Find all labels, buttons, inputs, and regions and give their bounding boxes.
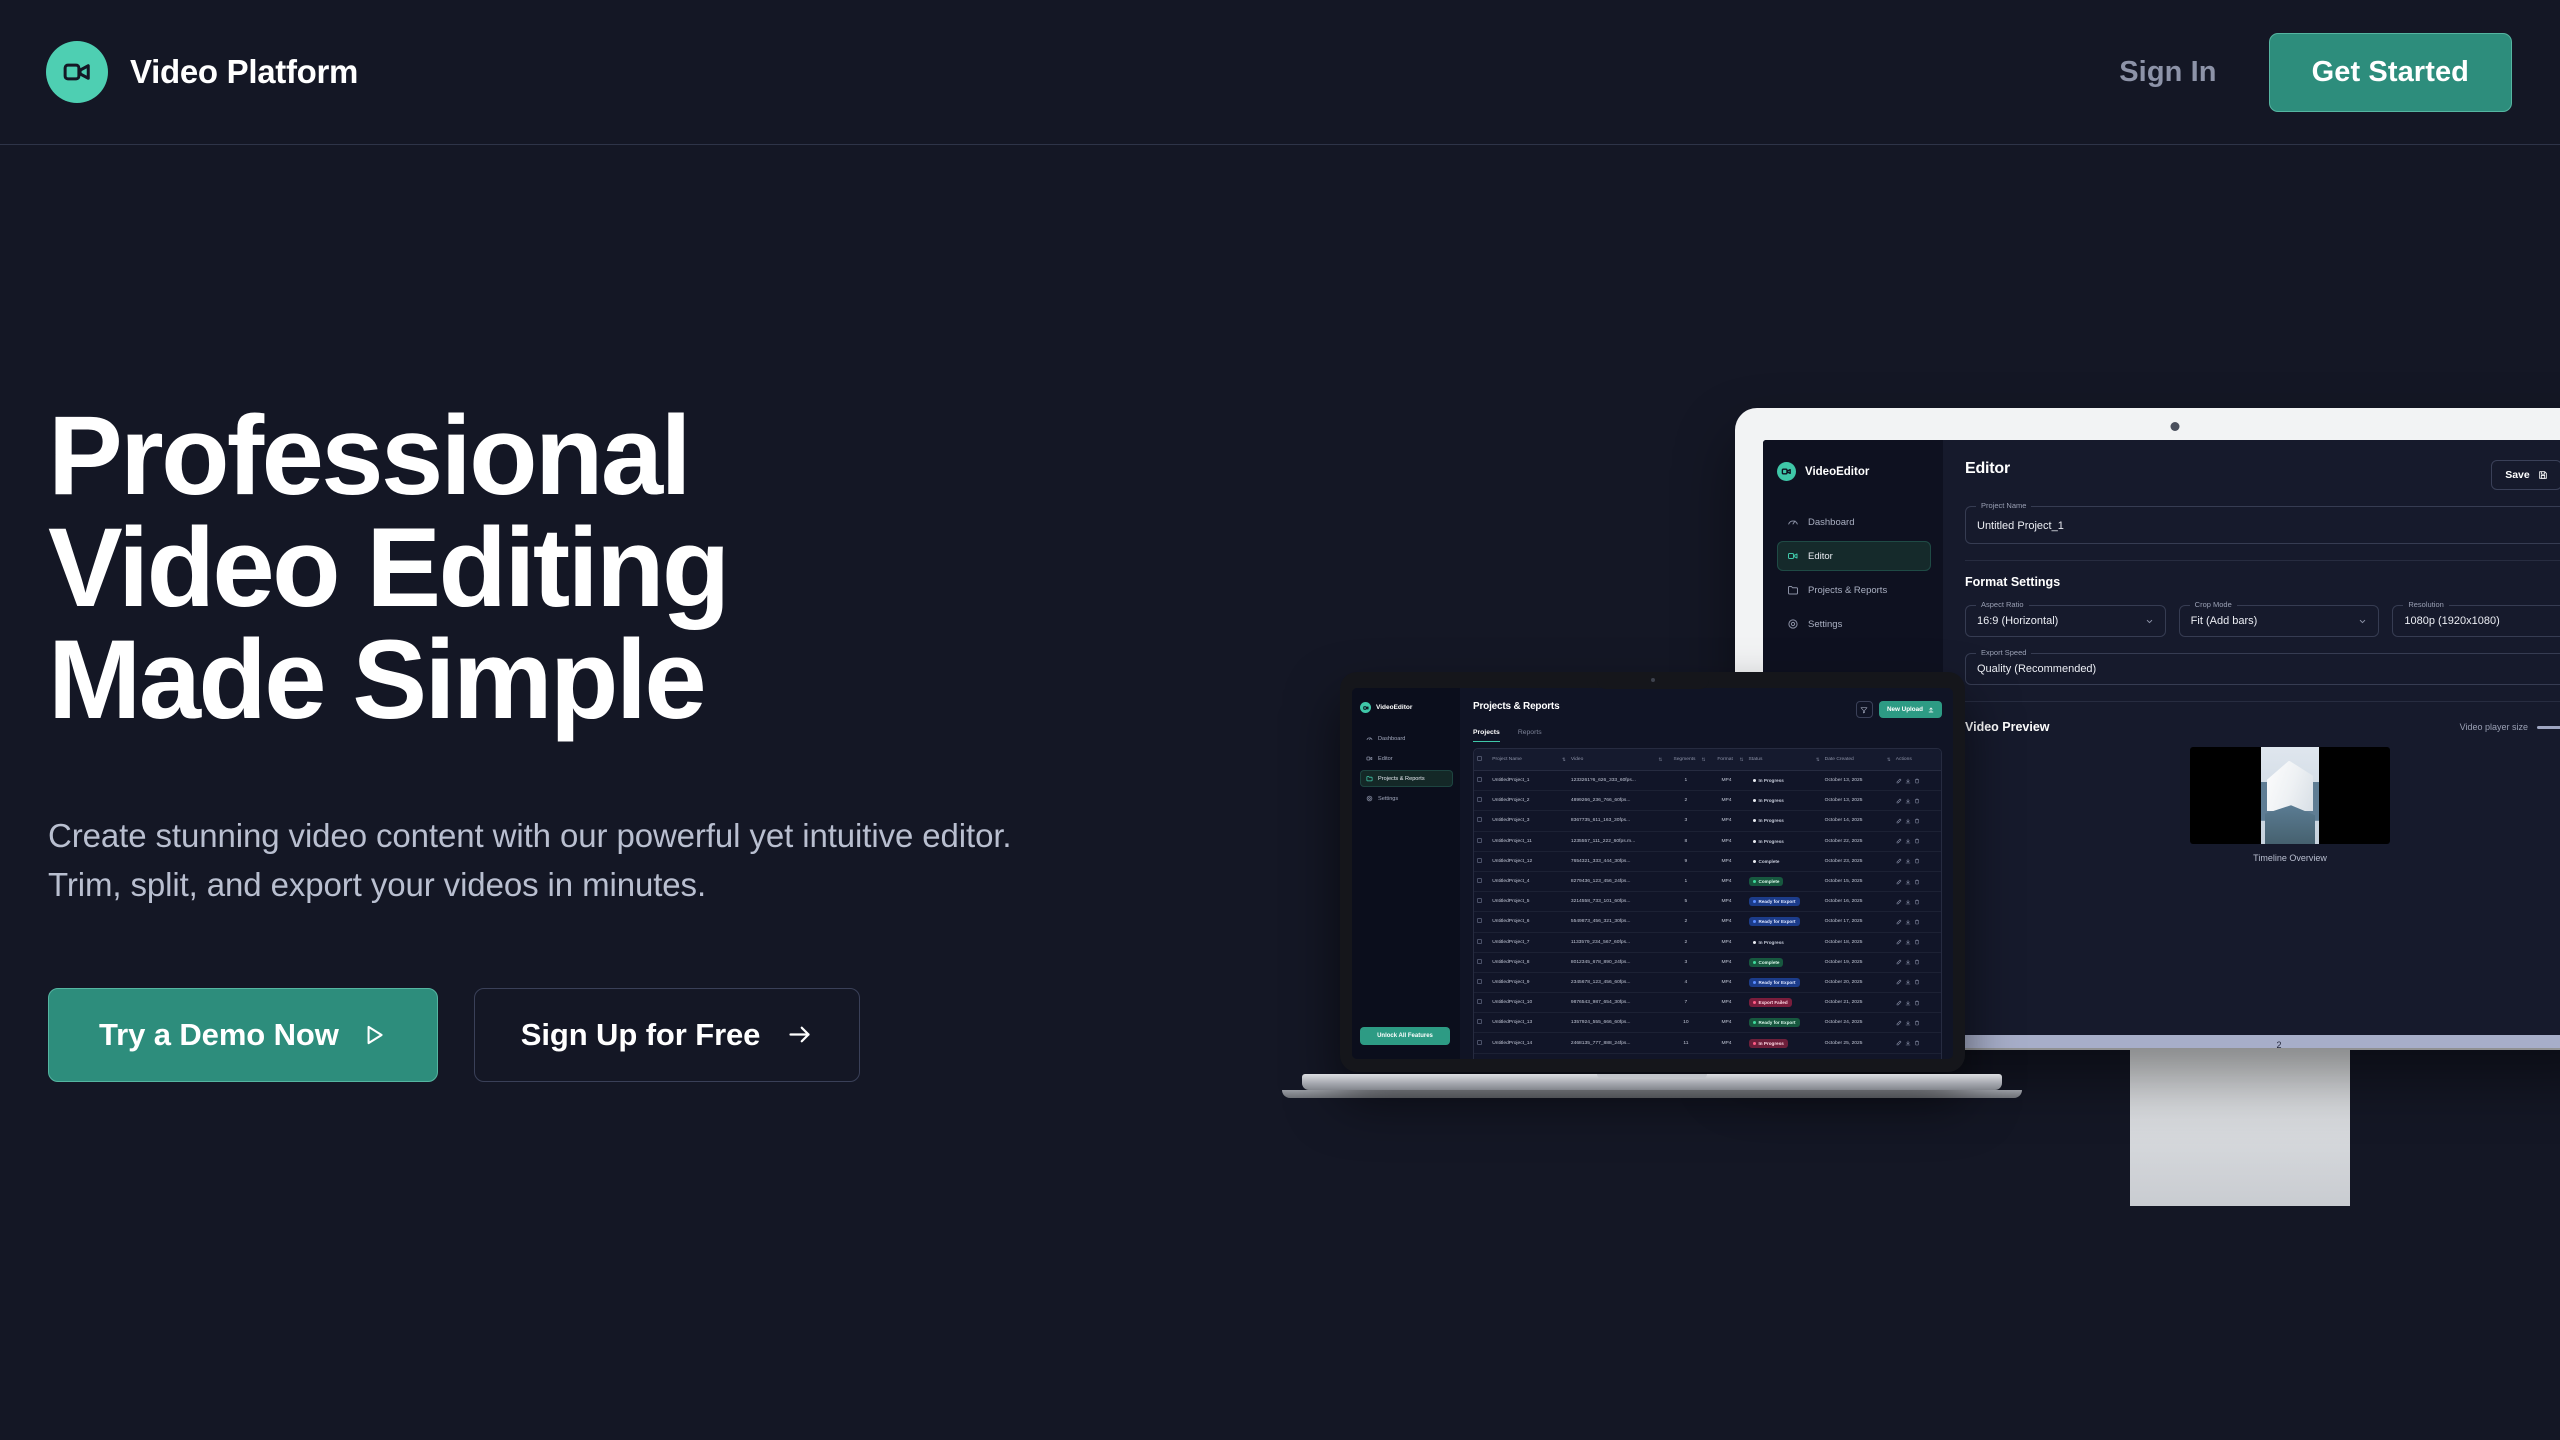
laptop-top-actions: New Upload xyxy=(1856,701,1942,718)
table-head: Project Name⇅ Video⇅ Segments⇅ Format⇅ S… xyxy=(1474,749,1941,771)
cell-video: 8279436_123_456_24fps... xyxy=(1568,871,1664,891)
laptop-brand: VideoEditor xyxy=(1360,702,1453,713)
table-row[interactable]: UntitledProject_109876543_987_654_30fps.… xyxy=(1474,993,1941,1013)
sort-icon[interactable]: ⇅ xyxy=(1740,757,1743,763)
cell-actions[interactable] xyxy=(1893,1033,1941,1053)
gauge-icon xyxy=(1366,735,1373,742)
sort-icon[interactable]: ⇅ xyxy=(1702,757,1705,763)
cell-date-created: October 18, 2025 xyxy=(1822,932,1893,952)
cell-project-name: UntitledProject_3 xyxy=(1489,811,1568,831)
edit-icon[interactable] xyxy=(1896,858,1902,864)
cell-format: MP4 xyxy=(1707,912,1745,932)
header-actions: Actions xyxy=(1893,749,1941,771)
brand-logo[interactable]: Video Platform xyxy=(46,41,358,103)
cell-segments: 2 xyxy=(1664,912,1707,932)
save-button[interactable]: Save xyxy=(2491,460,2560,490)
cell-project-name: UntitledProject_11 xyxy=(1489,831,1568,851)
desktop-brand: VideoEditor xyxy=(1777,462,1931,481)
status-dot-icon xyxy=(1753,900,1756,903)
cell-status: Ready for Export xyxy=(1746,972,1822,992)
hero-title-line-2: Video Editing xyxy=(48,512,1058,624)
cell-segments: 1 xyxy=(1664,771,1707,791)
cell-video: 5549873_456_321_30fps... xyxy=(1568,912,1664,932)
cell-video: 8012345_678_890_24fps... xyxy=(1568,952,1664,972)
preview-building-photo xyxy=(2261,747,2319,844)
table-row[interactable]: UntitledProject_159638527_111_000_60fps.… xyxy=(1474,1053,1941,1059)
status-dot-icon xyxy=(1753,1001,1756,1004)
checkbox-icon[interactable] xyxy=(1477,1019,1482,1024)
save-label: Save xyxy=(2505,469,2530,481)
row-checkbox-cell[interactable] xyxy=(1474,972,1489,992)
sort-icon[interactable]: ⇅ xyxy=(1887,757,1890,763)
laptop-sidebar: VideoEditor Dashboard Editor xyxy=(1352,688,1460,1059)
checkbox-icon[interactable] xyxy=(1477,999,1482,1004)
row-checkbox-cell[interactable] xyxy=(1474,993,1489,1013)
get-started-button[interactable]: Get Started xyxy=(2269,33,2512,112)
table-row[interactable]: UntitledProject_88012345_678_890_24fps..… xyxy=(1474,952,1941,972)
cell-actions[interactable] xyxy=(1893,912,1941,932)
try-demo-button[interactable]: Try a Demo Now xyxy=(48,988,438,1082)
sidebar-item-settings[interactable]: Settings xyxy=(1777,609,1931,639)
edit-icon[interactable] xyxy=(1896,778,1902,784)
cell-segments: 11 xyxy=(1664,1033,1707,1053)
cell-date-created: October 14, 2025 xyxy=(1822,811,1893,831)
download-icon[interactable] xyxy=(1905,939,1911,945)
trash-icon[interactable] xyxy=(1914,919,1920,925)
trash-icon[interactable] xyxy=(1914,1000,1920,1006)
sign-in-button[interactable]: Sign In xyxy=(2119,56,2216,89)
laptop-notch xyxy=(1597,672,1709,689)
product-mockup-illustration: VideoEditor Dashboard Editor xyxy=(1340,380,2560,1210)
cell-actions[interactable] xyxy=(1893,1053,1941,1059)
trash-icon[interactable] xyxy=(1914,858,1920,864)
header-format-label: Format xyxy=(1717,757,1733,762)
edit-icon[interactable] xyxy=(1896,1040,1902,1046)
sidebar-label-dashboard: Dashboard xyxy=(1808,517,1854,528)
cell-actions[interactable] xyxy=(1893,871,1941,891)
cell-project-name: UntitledProject_6 xyxy=(1489,912,1568,932)
site-header: Video Platform Sign In Get Started xyxy=(0,0,2560,145)
resolution-select[interactable]: Resolution 1080p (1920x1080) xyxy=(2392,605,2560,637)
cell-video: 9876543_987_654_30fps... xyxy=(1568,993,1664,1013)
video-camera-icon xyxy=(1366,755,1373,762)
cell-format: MP4 xyxy=(1707,791,1745,811)
laptop-sidebar-item-projects-reports[interactable]: Projects & Reports xyxy=(1360,770,1453,787)
gear-icon xyxy=(1366,795,1373,802)
row-checkbox-cell[interactable] xyxy=(1474,791,1489,811)
edit-icon[interactable] xyxy=(1896,1000,1902,1006)
cell-date-created: October 19, 2025 xyxy=(1822,952,1893,972)
floppy-disk-icon xyxy=(2538,470,2548,480)
cell-segments: 1 xyxy=(1664,871,1707,891)
cell-project-name: UntitledProject_5 xyxy=(1489,892,1568,912)
row-checkbox-cell[interactable] xyxy=(1474,851,1489,871)
header-format[interactable]: Format⇅ xyxy=(1707,749,1745,771)
download-icon[interactable] xyxy=(1905,818,1911,824)
edit-icon[interactable] xyxy=(1896,1020,1902,1026)
checkbox-icon[interactable] xyxy=(1477,959,1482,964)
download-icon[interactable] xyxy=(1905,838,1911,844)
header-actions-label: Actions xyxy=(1896,757,1912,762)
desktop-top-actions: Save Exp xyxy=(2491,460,2560,490)
edit-icon[interactable] xyxy=(1896,879,1902,885)
cell-date-created: October 17, 2025 xyxy=(1822,912,1893,932)
cell-segments: 4 xyxy=(1664,972,1707,992)
header-actions: Sign In Get Started xyxy=(2119,33,2512,112)
edit-icon[interactable] xyxy=(1896,919,1902,925)
cell-status: In Progress xyxy=(1746,771,1822,791)
new-upload-button[interactable]: New Upload xyxy=(1879,701,1942,718)
trash-icon[interactable] xyxy=(1914,798,1920,804)
status-dot-icon xyxy=(1753,880,1756,883)
page-title: Professional Video Editing Made Simple xyxy=(48,400,1058,736)
cell-format: MP4 xyxy=(1707,811,1745,831)
row-checkbox-cell[interactable] xyxy=(1474,1013,1489,1033)
download-icon[interactable] xyxy=(1905,1000,1911,1006)
cell-status: Ready for Export xyxy=(1746,912,1822,932)
cell-date-created: October 24, 2025 xyxy=(1822,1013,1893,1033)
header-date-label: Date Created xyxy=(1825,757,1854,762)
edit-icon[interactable] xyxy=(1896,939,1902,945)
cell-actions[interactable] xyxy=(1893,952,1941,972)
cell-status: In Progress xyxy=(1746,811,1822,831)
cell-format: MP4 xyxy=(1707,972,1745,992)
cell-format: MP4 xyxy=(1707,851,1745,871)
format-settings-row: Aspect Ratio 16:9 (Horizontal) Crop Mode… xyxy=(1965,589,2560,637)
header-video-label: Video xyxy=(1571,757,1583,762)
video-preview-frame xyxy=(2190,747,2390,844)
laptop-brand-name: VideoEditor xyxy=(1376,704,1412,711)
table-row[interactable]: UntitledProject_92345678_123_456_60fps..… xyxy=(1474,972,1941,992)
laptop-sidebar-item-editor[interactable]: Editor xyxy=(1360,750,1453,767)
cell-project-name: UntitledProject_7 xyxy=(1489,932,1568,952)
row-checkbox-cell[interactable] xyxy=(1474,912,1489,932)
cell-date-created: October 26, 2025 xyxy=(1822,1053,1893,1059)
row-checkbox-cell[interactable] xyxy=(1474,932,1489,952)
cell-actions[interactable] xyxy=(1893,1013,1941,1033)
sign-up-free-button[interactable]: Sign Up for Free xyxy=(474,988,861,1082)
trash-icon[interactable] xyxy=(1914,1040,1920,1046)
cell-date-created: October 21, 2025 xyxy=(1822,993,1893,1013)
sort-icon[interactable]: ⇅ xyxy=(1562,757,1565,763)
laptop-sidebar-label-projects-reports: Projects & Reports xyxy=(1378,776,1425,782)
status-badge: In Progress xyxy=(1749,1039,1788,1048)
cell-format: MP4 xyxy=(1707,993,1745,1013)
cell-format: MP4 xyxy=(1707,1033,1745,1053)
cell-segments: 1 xyxy=(1664,1053,1707,1059)
checkbox-icon[interactable] xyxy=(1477,777,1482,782)
cell-segments: 10 xyxy=(1664,1013,1707,1033)
divider xyxy=(1965,560,2560,561)
cell-segments: 7 xyxy=(1664,993,1707,1013)
cell-segments: 5 xyxy=(1664,892,1707,912)
laptop-topbar: Projects & Reports New Upload xyxy=(1473,701,1942,718)
video-camera-icon xyxy=(1360,702,1371,713)
checkbox-icon[interactable] xyxy=(1477,838,1482,843)
video-preview-header: Video Preview Video player size xyxy=(1965,720,2560,734)
cell-format: MP4 xyxy=(1707,1053,1745,1059)
cell-actions[interactable] xyxy=(1893,811,1941,831)
header-segments[interactable]: Segments⇅ xyxy=(1664,749,1707,771)
header-select-all[interactable] xyxy=(1474,749,1489,771)
checkbox-icon[interactable] xyxy=(1477,898,1482,903)
projects-table-wrapper: Project Name⇅ Video⇅ Segments⇅ Format⇅ S… xyxy=(1473,748,1942,1059)
table-row[interactable]: UntitledProject_38367735_611_163_30fps..… xyxy=(1474,811,1941,831)
try-demo-label: Try a Demo Now xyxy=(99,1017,339,1053)
cell-project-name: UntitledProject_1 xyxy=(1489,771,1568,791)
row-checkbox-cell[interactable] xyxy=(1474,871,1489,891)
header-project-name-label: Project Name xyxy=(1492,757,1522,762)
hero-title-line-3: Made Simple xyxy=(48,624,1058,736)
row-checkbox-cell[interactable] xyxy=(1474,1033,1489,1053)
cell-date-created: October 15, 2025 xyxy=(1822,871,1893,891)
status-dot-icon xyxy=(1753,1042,1756,1045)
hero-subtitle: Create stunning video content with our p… xyxy=(48,812,1058,910)
cell-actions[interactable] xyxy=(1893,972,1941,992)
status-dot-icon xyxy=(1753,961,1756,964)
laptop-tabs: Projects Reports xyxy=(1473,729,1942,742)
laptop-sidebar-label-editor: Editor xyxy=(1378,756,1393,762)
laptop-sidebar-item-dashboard[interactable]: Dashboard xyxy=(1360,730,1453,747)
player-size-label: Video player size xyxy=(2460,722,2528,732)
cell-actions[interactable] xyxy=(1893,993,1941,1013)
cell-actions[interactable] xyxy=(1893,851,1941,871)
trash-icon[interactable] xyxy=(1914,838,1920,844)
header-project-name[interactable]: Project Name⇅ xyxy=(1489,749,1568,771)
chevron-down-icon xyxy=(2358,617,2367,626)
status-badge: Ready for Export xyxy=(1749,897,1800,906)
crop-mode-select[interactable]: Crop Mode Fit (Add bars) xyxy=(2179,605,2380,637)
row-checkbox-cell[interactable] xyxy=(1474,952,1489,972)
export-speed-label: Export Speed xyxy=(1976,648,2031,657)
cell-segments: 3 xyxy=(1664,952,1707,972)
unlock-all-features-button[interactable]: Unlock All Features xyxy=(1360,1027,1450,1045)
edit-icon[interactable] xyxy=(1896,818,1902,824)
project-name-field[interactable]: Project Name Untitled Project_1 xyxy=(1965,506,2560,544)
laptop-sidebar-label-dashboard: Dashboard xyxy=(1378,736,1405,742)
cell-status: In Progress xyxy=(1746,831,1822,851)
header-status-label: Status xyxy=(1749,757,1763,762)
cell-format: MP4 xyxy=(1707,892,1745,912)
cell-status: In Progress xyxy=(1746,932,1822,952)
status-badge: Ready for Export xyxy=(1749,1018,1800,1027)
cell-project-name: UntitledProject_10 xyxy=(1489,993,1568,1013)
header-video[interactable]: Video⇅ xyxy=(1568,749,1664,771)
player-size-slider[interactable] xyxy=(2537,726,2560,729)
trash-icon[interactable] xyxy=(1914,979,1920,985)
trash-icon[interactable] xyxy=(1914,879,1920,885)
trash-icon[interactable] xyxy=(1914,959,1920,965)
table-row[interactable]: UntitledProject_65549873_456_321_30fps..… xyxy=(1474,912,1941,932)
download-icon[interactable] xyxy=(1905,778,1911,784)
download-icon[interactable] xyxy=(1905,979,1911,985)
checkbox-icon[interactable] xyxy=(1477,918,1482,923)
tab-reports[interactable]: Reports xyxy=(1518,729,1542,742)
export-speed-select[interactable]: Export Speed Quality (Recommended) xyxy=(1965,653,2560,685)
checkbox-icon[interactable] xyxy=(1477,939,1482,944)
timeline-scrubber[interactable]: 2 xyxy=(1943,1035,2560,1048)
download-icon[interactable] xyxy=(1905,959,1911,965)
header-segments-label: Segments xyxy=(1673,757,1695,762)
trash-icon[interactable] xyxy=(1914,818,1920,824)
edit-icon[interactable] xyxy=(1896,899,1902,905)
laptop-sidebar-label-settings: Settings xyxy=(1378,796,1398,802)
gauge-icon xyxy=(1787,516,1799,528)
row-checkbox-cell[interactable] xyxy=(1474,831,1489,851)
export-speed-value: Quality (Recommended) xyxy=(1977,663,2096,675)
checkbox-icon[interactable] xyxy=(1477,797,1482,802)
filter-funnel-icon[interactable] xyxy=(1856,701,1873,718)
cell-segments: 3 xyxy=(1664,811,1707,831)
table-row[interactable]: UntitledProject_11233261?6_626_333_60fps… xyxy=(1474,771,1941,791)
sidebar-item-projects-reports[interactable]: Projects & Reports xyxy=(1777,575,1931,605)
cell-project-name: UntitledProject_4 xyxy=(1489,871,1568,891)
table-row[interactable]: UntitledProject_24899266_236_766_60fps..… xyxy=(1474,791,1941,811)
cell-format: MP4 xyxy=(1707,831,1745,851)
cell-video: 2468135_777_888_24fps... xyxy=(1568,1033,1664,1053)
timeline-overview-caption: Timeline Overview xyxy=(1965,853,2560,863)
trash-icon[interactable] xyxy=(1914,939,1920,945)
cell-format: MP4 xyxy=(1707,771,1745,791)
download-icon[interactable] xyxy=(1905,919,1911,925)
desktop-brand-name: VideoEditor xyxy=(1805,466,1869,478)
resolution-value: 1080p (1920x1080) xyxy=(2404,615,2499,627)
cell-video: 2345678_123_456_60fps... xyxy=(1568,972,1664,992)
chevron-down-icon xyxy=(2145,617,2154,626)
cell-actions[interactable] xyxy=(1893,771,1941,791)
sidebar-item-dashboard[interactable]: Dashboard xyxy=(1777,507,1931,537)
video-camera-icon xyxy=(1787,550,1799,562)
cell-date-created: October 13, 2025 xyxy=(1822,791,1893,811)
project-name-value: Untitled Project_1 xyxy=(1977,520,2064,532)
monitor-stand xyxy=(2130,1046,2350,1206)
cell-project-name: UntitledProject_15 xyxy=(1489,1053,1568,1059)
upload-icon xyxy=(1928,707,1934,713)
status-dot-icon xyxy=(1753,840,1756,843)
status-badge: Ready for Export xyxy=(1749,978,1800,987)
header-date-created[interactable]: Date Created⇅ xyxy=(1822,749,1893,771)
download-icon[interactable] xyxy=(1905,1020,1911,1026)
download-icon[interactable] xyxy=(1905,858,1911,864)
cell-actions[interactable] xyxy=(1893,932,1941,952)
checkbox-icon[interactable] xyxy=(1477,1040,1482,1045)
tab-projects[interactable]: Projects xyxy=(1473,729,1500,742)
header-status[interactable]: Status⇅ xyxy=(1746,749,1822,771)
checkbox-icon[interactable] xyxy=(1477,756,1482,761)
table-row[interactable]: UntitledProject_111235557_111_222_60fps.… xyxy=(1474,831,1941,851)
cell-video: 1233261?6_626_333_60fps... xyxy=(1568,771,1664,791)
cell-actions[interactable] xyxy=(1893,892,1941,912)
cell-video: 3214558_733_101_60fps... xyxy=(1568,892,1664,912)
status-dot-icon xyxy=(1753,799,1756,802)
edit-icon[interactable] xyxy=(1896,838,1902,844)
download-icon[interactable] xyxy=(1905,879,1911,885)
cell-segments: 8 xyxy=(1664,831,1707,851)
video-camera-icon xyxy=(46,41,108,103)
row-checkbox-cell[interactable] xyxy=(1474,811,1489,831)
cell-status: Complete xyxy=(1746,871,1822,891)
cell-format: MP4 xyxy=(1707,932,1745,952)
laptop-sidebar-item-settings[interactable]: Settings xyxy=(1360,790,1453,807)
status-badge: Complete xyxy=(1749,857,1784,866)
table-row[interactable]: UntitledProject_53214558_733_101_60fps..… xyxy=(1474,892,1941,912)
trash-icon[interactable] xyxy=(1914,778,1920,784)
sidebar-label-editor: Editor xyxy=(1808,551,1833,562)
edit-icon[interactable] xyxy=(1896,798,1902,804)
status-dot-icon xyxy=(1753,981,1756,984)
cell-project-name: UntitledProject_13 xyxy=(1489,1013,1568,1033)
checkbox-icon[interactable] xyxy=(1477,979,1482,984)
table-row[interactable]: UntitledProject_127654321_333_444_30fps.… xyxy=(1474,851,1941,871)
table-row[interactable]: UntitledProject_71133579_234_567_60fps..… xyxy=(1474,932,1941,952)
laptop-app-screen: VideoEditor Dashboard Editor xyxy=(1352,688,1953,1059)
checkbox-icon[interactable] xyxy=(1477,878,1482,883)
row-checkbox-cell[interactable] xyxy=(1474,771,1489,791)
folder-icon xyxy=(1787,584,1799,596)
cell-actions[interactable] xyxy=(1893,791,1941,811)
cell-status: Ready for Export xyxy=(1746,892,1822,912)
status-dot-icon xyxy=(1753,920,1756,923)
cell-video: 1357924_555_666_60fps... xyxy=(1568,1013,1664,1033)
cell-date-created: October 16, 2025 xyxy=(1822,892,1893,912)
webcam-icon xyxy=(2171,422,2180,431)
download-icon[interactable] xyxy=(1905,1040,1911,1046)
status-dot-icon xyxy=(1753,819,1756,822)
table-row[interactable]: UntitledProject_131357924_555_666_60fps.… xyxy=(1474,1013,1941,1033)
trash-icon[interactable] xyxy=(1914,1020,1920,1026)
cell-video: 7654321_333_444_30fps... xyxy=(1568,851,1664,871)
folder-icon xyxy=(1366,775,1373,782)
row-checkbox-cell[interactable] xyxy=(1474,1053,1489,1059)
sidebar-item-editor[interactable]: Editor xyxy=(1777,541,1931,571)
status-badge: Complete xyxy=(1749,958,1784,967)
table-row[interactable]: UntitledProject_48279436_123_456_24fps..… xyxy=(1474,871,1941,891)
edit-icon[interactable] xyxy=(1896,959,1902,965)
cell-video: 1235557_111_222_60fps.m... xyxy=(1568,831,1664,851)
status-badge: In Progress xyxy=(1749,796,1788,805)
checkbox-icon[interactable] xyxy=(1477,817,1482,822)
crop-mode-label: Crop Mode xyxy=(2190,600,2237,609)
table-row[interactable]: UntitledProject_142468135_777_888_24fps.… xyxy=(1474,1033,1941,1053)
player-size-control[interactable]: Video player size xyxy=(2460,722,2560,732)
row-checkbox-cell[interactable] xyxy=(1474,892,1489,912)
download-icon[interactable] xyxy=(1905,899,1911,905)
download-icon[interactable] xyxy=(1905,798,1911,804)
sidebar-label-projects-reports: Projects & Reports xyxy=(1808,585,1887,596)
trash-icon[interactable] xyxy=(1914,899,1920,905)
edit-icon[interactable] xyxy=(1896,979,1902,985)
table-header-row: Project Name⇅ Video⇅ Segments⇅ Format⇅ S… xyxy=(1474,749,1941,771)
cell-status: In Progress xyxy=(1746,1033,1822,1053)
projects-table: Project Name⇅ Video⇅ Segments⇅ Format⇅ S… xyxy=(1474,749,1941,1059)
cell-actions[interactable] xyxy=(1893,831,1941,851)
arrow-right-icon xyxy=(786,1021,813,1048)
checkbox-icon[interactable] xyxy=(1477,858,1482,863)
laptop-mockup: VideoEditor Dashboard Editor xyxy=(1340,672,1965,1102)
table-body: UntitledProject_11233261?6_626_333_60fps… xyxy=(1474,771,1941,1060)
status-badge: Export Failed xyxy=(1749,998,1792,1007)
aspect-ratio-select[interactable]: Aspect Ratio 16:9 (Horizontal) xyxy=(1965,605,2166,637)
divider xyxy=(1965,701,2560,702)
aspect-ratio-label: Aspect Ratio xyxy=(1976,600,2029,609)
sort-icon[interactable]: ⇅ xyxy=(1816,757,1819,763)
desktop-main-panel: Editor Save Exp Projec xyxy=(1943,440,2560,1048)
status-badge: In Progress xyxy=(1749,938,1788,947)
sort-icon[interactable]: ⇅ xyxy=(1658,757,1661,763)
status-badge: In Progress xyxy=(1749,776,1788,785)
hero-title-line-1: Professional xyxy=(48,400,1058,512)
cell-status: Ready for Export xyxy=(1746,1013,1822,1033)
